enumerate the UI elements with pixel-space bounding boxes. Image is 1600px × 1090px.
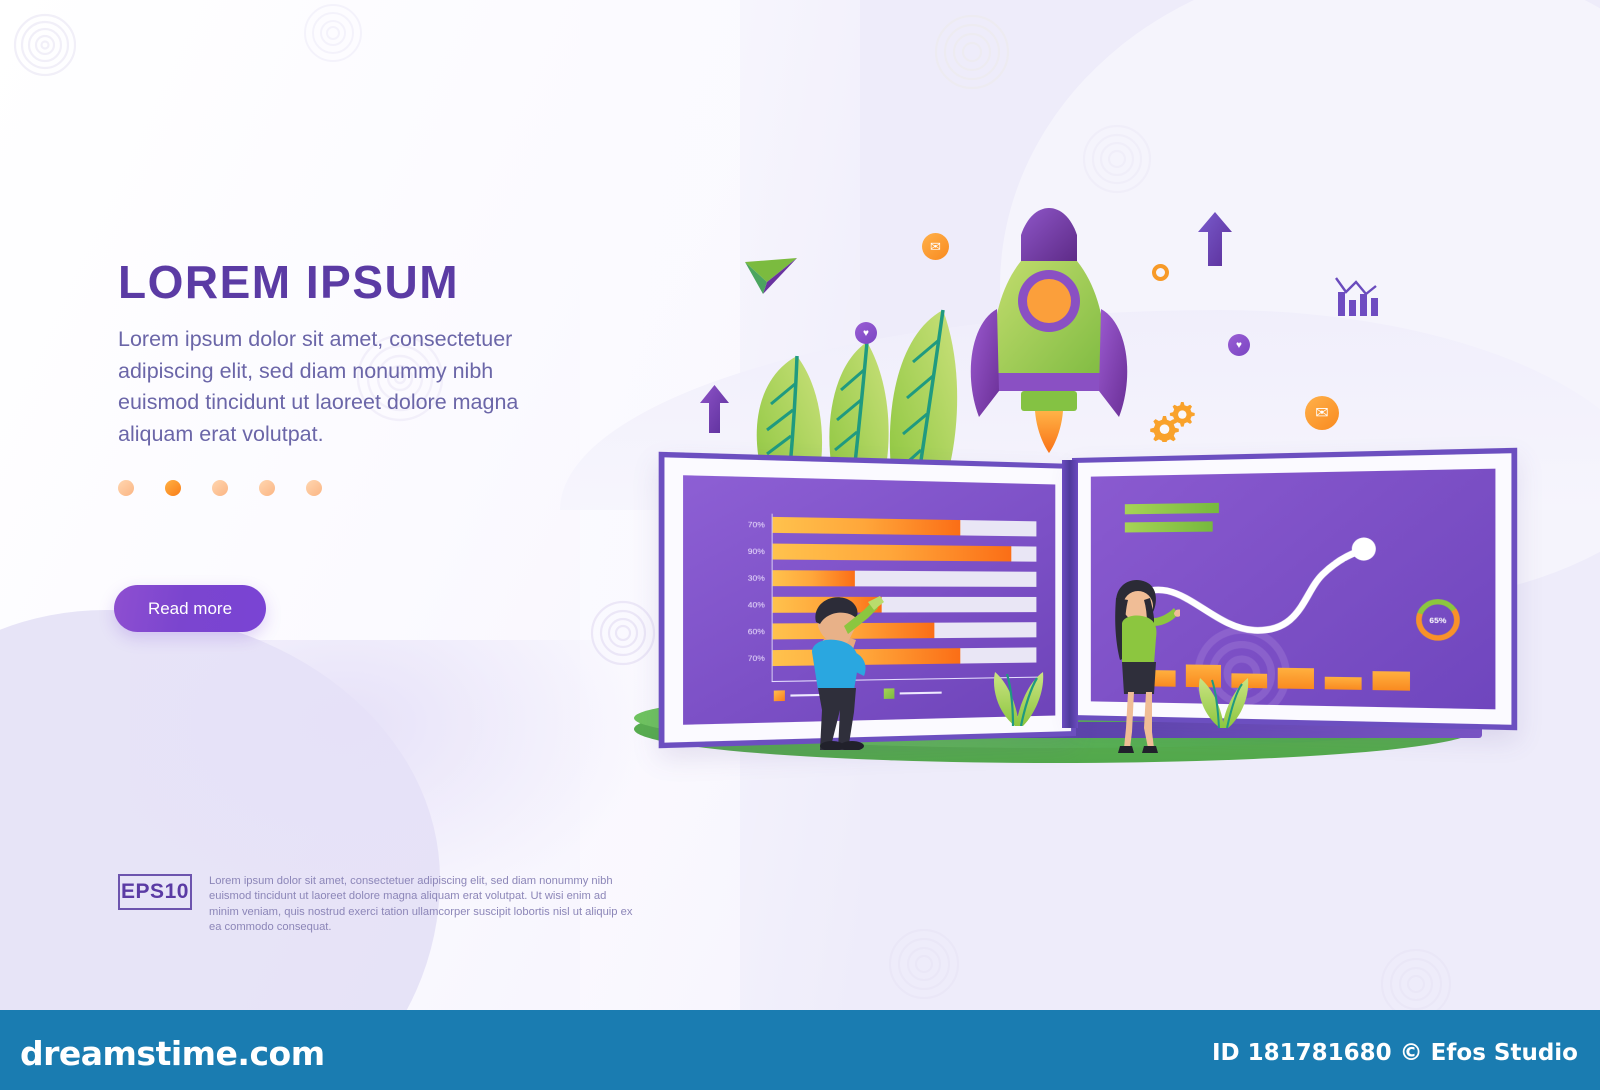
bar-track bbox=[773, 544, 1037, 562]
carousel-pager[interactable] bbox=[118, 480, 322, 496]
pager-dot-active[interactable] bbox=[165, 480, 181, 496]
donut-value-label: 65% bbox=[1412, 595, 1463, 644]
bar-fill bbox=[773, 517, 961, 536]
bar-fill bbox=[773, 544, 1012, 562]
heart-icon: ♥ bbox=[855, 322, 877, 344]
orange-bar bbox=[1373, 671, 1410, 691]
arrow-up-icon bbox=[1198, 212, 1232, 266]
orange-bar bbox=[1325, 677, 1362, 690]
person-presenter-male bbox=[798, 560, 888, 750]
grass-tuft bbox=[1192, 676, 1254, 728]
legend-swatch-orange bbox=[774, 690, 785, 701]
pager-dot[interactable] bbox=[118, 480, 134, 496]
pager-dot[interactable] bbox=[306, 480, 322, 496]
eps-note-text: Lorem ipsum dolor sit amet, consectetuer… bbox=[209, 874, 634, 936]
stock-footer-bar: dreamstime.com ID 181781680 © Efos Studi… bbox=[0, 1010, 1600, 1090]
open-book: 70% 90% 30% 40% bbox=[660, 440, 1500, 740]
stock-image-credit: ID 181781680 © Efos Studio bbox=[1212, 1040, 1578, 1066]
orange-bar bbox=[1278, 668, 1314, 689]
bar-label: 90% bbox=[727, 546, 765, 556]
bar-label: 60% bbox=[727, 627, 765, 637]
paper-plane-icon bbox=[745, 256, 799, 296]
read-more-button[interactable]: Read more bbox=[114, 585, 266, 632]
arrow-up-icon bbox=[700, 385, 729, 433]
donut-gauge: 65% bbox=[1412, 595, 1463, 644]
green-bar bbox=[1125, 503, 1219, 514]
page-title: LOREM IPSUM bbox=[118, 258, 588, 306]
pager-dot[interactable] bbox=[212, 480, 228, 496]
legend-placeholder-line bbox=[900, 691, 942, 694]
grass-tuft bbox=[985, 668, 1047, 726]
eps10-badge: EPS10 bbox=[118, 874, 192, 910]
bar-chart-icon bbox=[1332, 272, 1380, 316]
hero-body-text: Lorem ipsum dolor sit amet, consectetuer… bbox=[118, 324, 563, 450]
hero-copy: LOREM IPSUM Lorem ipsum dolor sit amet, … bbox=[118, 258, 588, 451]
bar-label: 40% bbox=[727, 600, 765, 610]
illustration-canvas: LOREM IPSUM Lorem ipsum dolor sit amet, … bbox=[0, 0, 1600, 1010]
person-presenter-female bbox=[1098, 568, 1180, 753]
bar-row: 70% bbox=[727, 515, 1046, 538]
book-spine bbox=[1062, 460, 1078, 728]
dreamstime-logo[interactable]: dreamstime.com bbox=[20, 1034, 325, 1073]
dreamstime-logo-text: dreamstime.com bbox=[20, 1034, 325, 1073]
gears-icon bbox=[1150, 400, 1196, 442]
bar-track bbox=[773, 517, 1037, 537]
bar-label: 30% bbox=[727, 573, 765, 583]
bar-label: 70% bbox=[727, 653, 765, 663]
orange-bar-series bbox=[1141, 664, 1410, 691]
heart-icon: ♥ bbox=[1228, 334, 1250, 356]
bar-label: 70% bbox=[727, 519, 765, 529]
illustration-stage: LOREM IPSUM Lorem ipsum dolor sit amet, … bbox=[0, 0, 1600, 1090]
rocket-icon bbox=[965, 205, 1135, 455]
eps-note: EPS10 Lorem ipsum dolor sit amet, consec… bbox=[118, 874, 634, 936]
ring-icon bbox=[1152, 264, 1169, 281]
legend-item bbox=[884, 687, 942, 698]
envelope-icon: ✉ bbox=[922, 233, 949, 260]
envelope-icon: ✉ bbox=[1305, 396, 1339, 430]
pager-dot[interactable] bbox=[259, 480, 275, 496]
